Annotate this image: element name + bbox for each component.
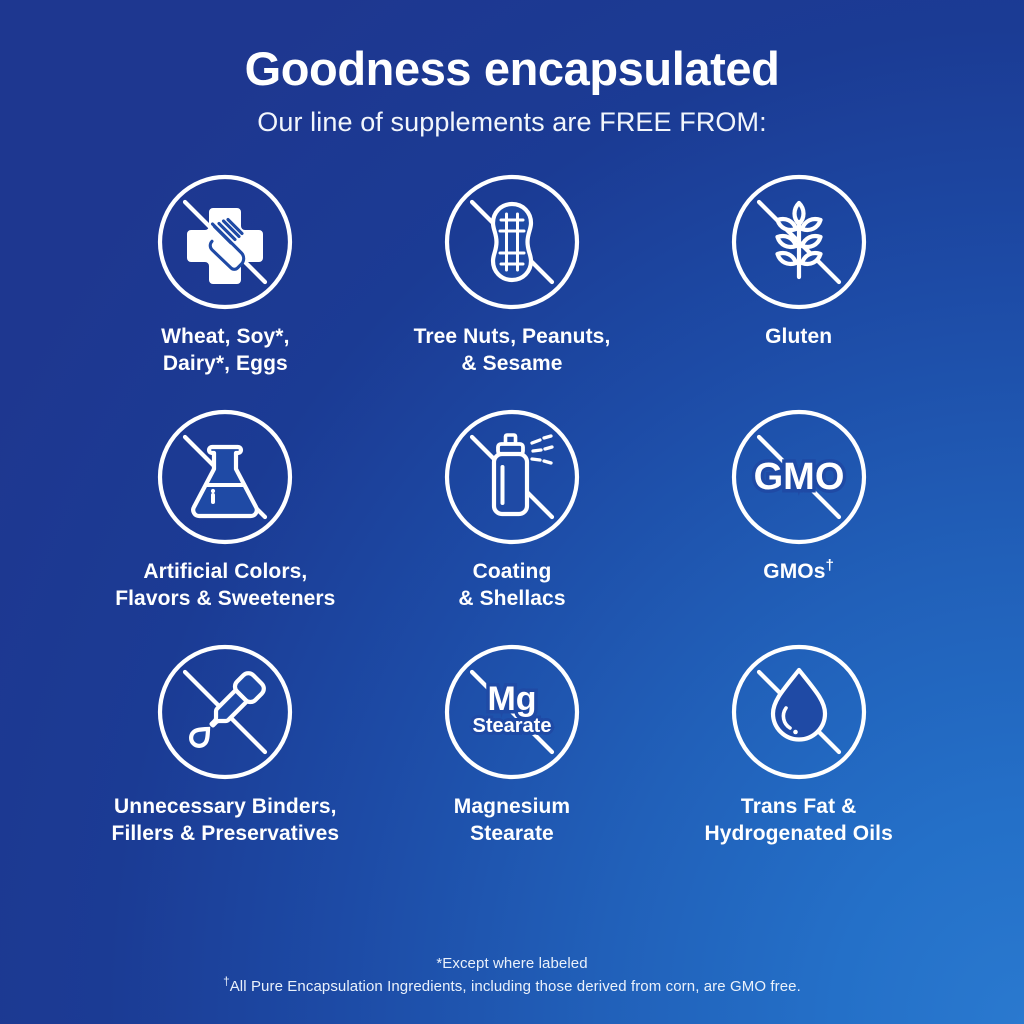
page-subtitle: Our line of supplements are FREE FROM: [0, 107, 1024, 138]
caption-line-2: & Shellacs [458, 587, 565, 610]
mg-inner-text: Mg [487, 680, 536, 718]
caption-line-1: Wheat, Soy*, [161, 325, 289, 348]
grid-item-nuts: Tree Nuts, Peanuts, & Sesame [369, 174, 656, 409]
caption-magnesium: Magnesium Stearate [454, 794, 570, 848]
caption-artificial: Artificial Colors, Flavors & Sweeteners [115, 559, 335, 613]
caption-gluten: Gluten [765, 324, 832, 351]
no-flask-icon [157, 409, 293, 545]
footnotes: *Except where labeled †All Pure Encapsul… [0, 952, 1024, 999]
no-oil-droplet-icon [731, 644, 867, 780]
grid-item-transfat: Trans Fat & Hydrogenated Oils [655, 644, 942, 879]
grid-item-gmo: GMO GMOs† [655, 409, 942, 644]
grid-item-gluten: Gluten [655, 174, 942, 409]
grid-item-magnesium: Mg Stearate Magnesium Stearate [369, 644, 656, 879]
caption-line-1: GMOs [763, 560, 825, 583]
grid-item-coating: Coating & Shellacs [369, 409, 656, 644]
no-spray-can-icon [444, 409, 580, 545]
grid-item-binders: Unnecessary Binders, Fillers & Preservat… [82, 644, 369, 879]
caption-transfat: Trans Fat & Hydrogenated Oils [704, 794, 892, 848]
footnote-asterisk: *Except where labeled [0, 952, 1024, 975]
no-dropper-icon [157, 644, 293, 780]
infographic-poster: Goodness encapsulated Our line of supple… [0, 0, 1024, 1024]
footnote-dagger: †All Pure Encapsulation Ingredients, inc… [0, 975, 1024, 998]
caption-line-1: Gluten [765, 325, 832, 348]
caption-line-1: Tree Nuts, Peanuts, [414, 325, 611, 348]
caption-nuts: Tree Nuts, Peanuts, & Sesame [414, 324, 611, 378]
no-peanut-icon [444, 174, 580, 310]
caption-allergens: Wheat, Soy*, Dairy*, Eggs [161, 324, 289, 378]
free-from-grid: Wheat, Soy*, Dairy*, Eggs [82, 174, 942, 879]
caption-line-2: Stearate [470, 822, 554, 845]
caption-gmo: GMOs† [763, 559, 834, 586]
header: Goodness encapsulated Our line of supple… [0, 0, 1024, 138]
stearate-inner-text: Stearate [473, 715, 552, 737]
caption-dagger: † [826, 557, 835, 574]
gmo-inner-text: GMO [753, 456, 844, 498]
no-allergens-cross-fork-icon [157, 174, 293, 310]
caption-line-1: Trans Fat & [741, 795, 856, 818]
caption-line-1: Unnecessary Binders, [114, 795, 337, 818]
caption-line-2: & Sesame [461, 352, 562, 375]
caption-line-2: Hydrogenated Oils [704, 822, 892, 845]
no-magnesium-stearate-icon: Mg Stearate [444, 644, 580, 780]
caption-line-2: Flavors & Sweeteners [115, 587, 335, 610]
grid-item-artificial: Artificial Colors, Flavors & Sweeteners [82, 409, 369, 644]
caption-line-1: Coating [473, 560, 552, 583]
caption-line-2: Dairy*, Eggs [163, 352, 288, 375]
caption-line-1: Artificial Colors, [143, 560, 307, 583]
no-wheat-stalk-icon [731, 174, 867, 310]
no-gmo-icon: GMO [731, 409, 867, 545]
page-title: Goodness encapsulated [0, 44, 1024, 95]
footnote-dagger-marker: † [223, 975, 230, 988]
caption-coating: Coating & Shellacs [458, 559, 565, 613]
caption-line-1: Magnesium [454, 795, 570, 818]
footnote-dagger-text: All Pure Encapsulation Ingredients, incl… [230, 978, 801, 995]
caption-binders: Unnecessary Binders, Fillers & Preservat… [112, 794, 340, 848]
caption-line-2: Fillers & Preservatives [112, 822, 340, 845]
grid-item-allergens: Wheat, Soy*, Dairy*, Eggs [82, 174, 369, 409]
